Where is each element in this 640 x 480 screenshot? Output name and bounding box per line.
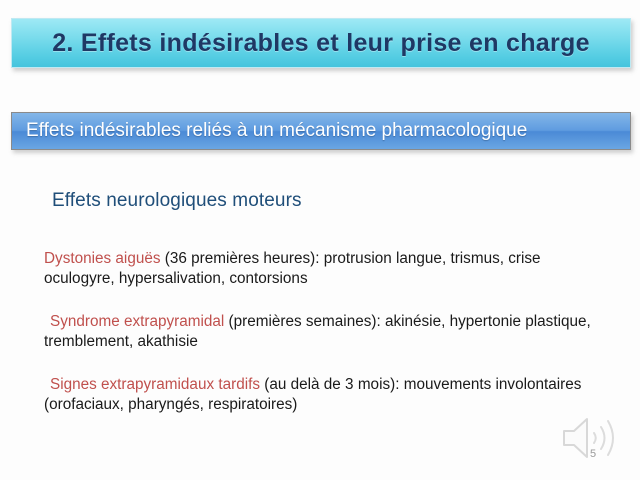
slide-title-text: 2. Effets indésirables et leur prise en … — [52, 29, 590, 58]
section-heading: Effets neurologiques moteurs — [52, 190, 302, 212]
bullet-paragraph-2: Syndrome extrapyramidal (premières semai… — [44, 312, 604, 352]
bullet-lead-3: Signes extrapyramidaux tardifs — [44, 376, 260, 393]
slide-subtitle-banner: Effets indésirables reliés à un mécanism… — [11, 112, 631, 150]
bullet-lead-2: Syndrome extrapyramidal — [44, 313, 224, 330]
bullet-paragraph-3: Signes extrapyramidaux tardifs (au delà … — [44, 375, 604, 415]
page-number: 5 — [590, 448, 596, 460]
speaker-icon[interactable] — [558, 412, 620, 464]
slide-title-banner: 2. Effets indésirables et leur prise en … — [11, 18, 631, 68]
slide-subtitle-text: Effets indésirables reliés à un mécanism… — [26, 120, 527, 142]
bullet-lead-1: Dystonies aiguës — [44, 250, 161, 267]
bullet-paragraph-1: Dystonies aiguës (36 premières heures): … — [44, 249, 604, 289]
slide-canvas: 2. Effets indésirables et leur prise en … — [0, 0, 640, 480]
